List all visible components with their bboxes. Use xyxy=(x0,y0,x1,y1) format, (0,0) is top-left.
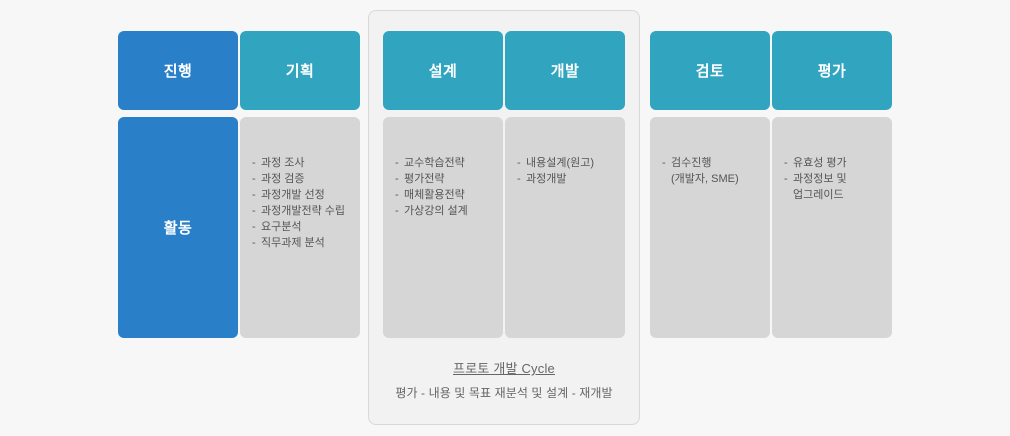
item-list-develop: 내용설계(원고) 과정개발 xyxy=(517,155,615,187)
column-header-design[interactable]: 설계 xyxy=(383,31,503,110)
item-list-design: 교수학습전략 평가전략 매체활용전략 가상강의 설계 xyxy=(395,155,493,219)
list-item: 유효성 평가 xyxy=(784,155,882,171)
column-body-review: 검수진행 (개발자, SME) xyxy=(650,117,770,338)
column-evaluate: 평가 유효성 평가 과정정보 및 업그레이드 xyxy=(772,31,892,338)
item-list-review: 검수진행 (개발자, SME) xyxy=(662,155,760,187)
column-body-planning: 과정 조사 과정 검증 과정개발 선정 과정개발전략 수립 요구분석 직무과제 … xyxy=(240,117,360,338)
column-body-progress: 활동 xyxy=(118,117,238,338)
list-item: 검수진행 (개발자, SME) xyxy=(662,155,760,187)
column-header-review[interactable]: 검토 xyxy=(650,31,770,110)
column-review: 검토 검수진행 (개발자, SME) xyxy=(650,31,770,338)
list-item: 평가전략 xyxy=(395,171,493,187)
item-list-planning: 과정 조사 과정 검증 과정개발 선정 과정개발전략 수립 요구분석 직무과제 … xyxy=(252,155,350,251)
list-item: 내용설계(원고) xyxy=(517,155,615,171)
item-list-evaluate: 유효성 평가 과정정보 및 업그레이드 xyxy=(784,155,882,203)
column-header-develop[interactable]: 개발 xyxy=(505,31,625,110)
list-item: 직무과제 분석 xyxy=(252,235,350,251)
list-item: 교수학습전략 xyxy=(395,155,493,171)
column-header-evaluate[interactable]: 평가 xyxy=(772,31,892,110)
list-item: 과정개발전략 수립 xyxy=(252,203,350,219)
column-planning: 기획 과정 조사 과정 검증 과정개발 선정 과정개발전략 수립 요구분석 직무… xyxy=(240,31,360,338)
column-body-develop: 내용설계(원고) 과정개발 xyxy=(505,117,625,338)
column-develop: 개발 내용설계(원고) 과정개발 xyxy=(505,31,625,338)
prototype-cycle-caption: 프로토 개발 Cycle 평가 - 내용 및 목표 재분석 및 설계 - 재개발 xyxy=(368,358,640,401)
cycle-subtitle: 평가 - 내용 및 목표 재분석 및 설계 - 재개발 xyxy=(368,384,640,401)
list-item: 매체활용전략 xyxy=(395,187,493,203)
column-progress: 진행 활동 xyxy=(118,31,238,338)
cycle-title: 프로토 개발 Cycle xyxy=(368,358,640,377)
process-diagram: 진행 활동 기획 과정 조사 과정 검증 과정개발 선정 과정개발전략 수립 요… xyxy=(0,0,1010,436)
list-item: 과정개발 xyxy=(517,171,615,187)
list-item: 과정 조사 xyxy=(252,155,350,171)
list-item: 과정 검증 xyxy=(252,171,350,187)
column-body-design: 교수학습전략 평가전략 매체활용전략 가상강의 설계 xyxy=(383,117,503,338)
list-item: 요구분석 xyxy=(252,219,350,235)
list-item: 과정개발 선정 xyxy=(252,187,350,203)
list-item: 과정정보 및 업그레이드 xyxy=(784,171,882,203)
list-item: 가상강의 설계 xyxy=(395,203,493,219)
column-header-planning[interactable]: 기획 xyxy=(240,31,360,110)
column-body-evaluate: 유효성 평가 과정정보 및 업그레이드 xyxy=(772,117,892,338)
column-design: 설계 교수학습전략 평가전략 매체활용전략 가상강의 설계 xyxy=(383,31,503,338)
column-header-progress[interactable]: 진행 xyxy=(118,31,238,110)
